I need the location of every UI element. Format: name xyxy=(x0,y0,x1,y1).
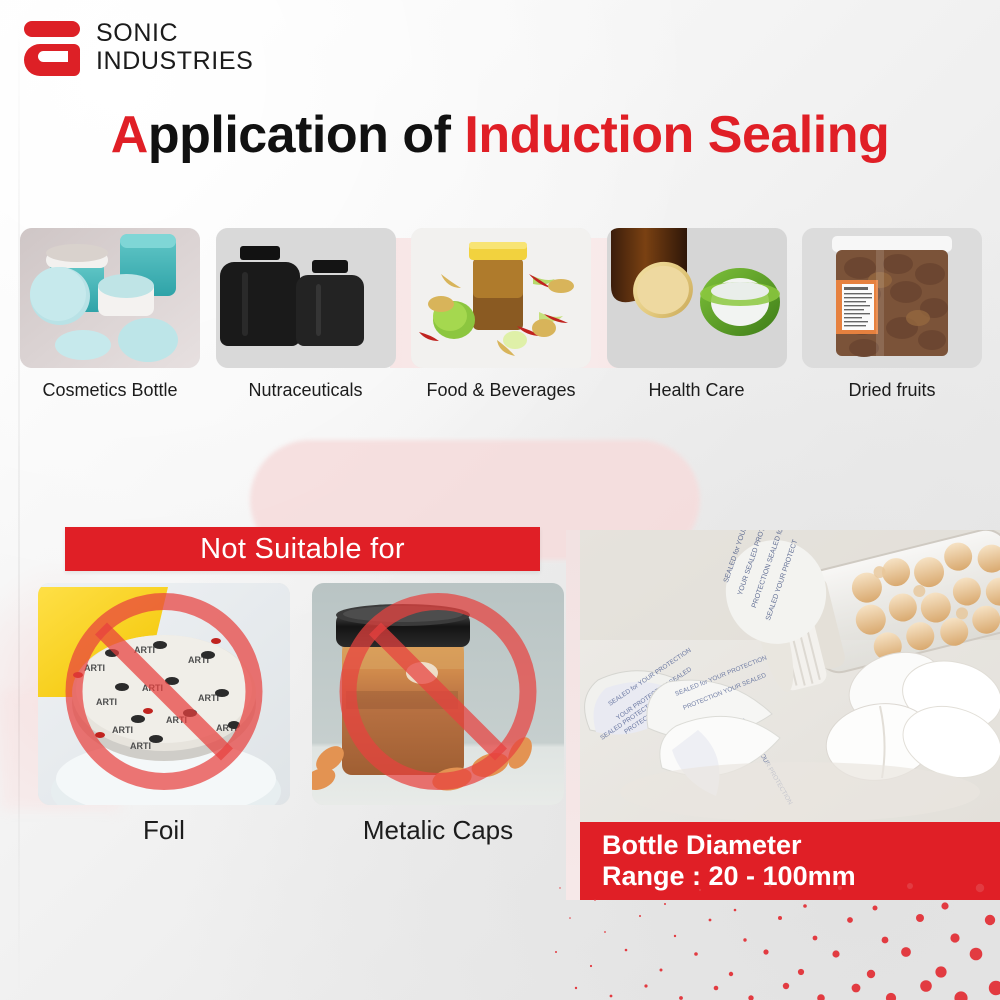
bottle-diameter-side-strip xyxy=(566,530,580,900)
brand-line-2: INDUSTRIES xyxy=(96,47,253,75)
brand-logo: SONIC INDUSTRIES xyxy=(24,18,253,76)
not-suitable-card-row: ARTIARTIARTI ARTIARTIARTI ARTIARTIARTI A… xyxy=(38,583,564,846)
application-card-cosmetics-bottle[interactable]: Cosmetics Bottle xyxy=(20,228,200,401)
brand-line-1: SONIC xyxy=(96,19,253,47)
brand-name: SONIC INDUSTRIES xyxy=(96,19,253,75)
application-label: Cosmetics Bottle xyxy=(20,380,200,401)
black-nutraceutical-bottles-photo xyxy=(216,228,396,368)
application-label: Food & Beverages xyxy=(411,380,591,401)
page-title: Application of Induction Sealing xyxy=(0,105,1000,165)
application-card-food-beverages[interactable]: Food & Beverages xyxy=(411,228,591,401)
application-card-health-care[interactable]: Health Care xyxy=(607,228,787,401)
prohibition-sign-icon xyxy=(333,587,543,802)
bottle-diameter-line-1: Bottle Diameter xyxy=(602,830,1000,861)
application-card-dried-fruits[interactable]: Dried fruits xyxy=(802,228,982,401)
title-black-part: pplication of xyxy=(148,106,465,164)
not-suitable-banner: Not Suitable for xyxy=(65,527,540,571)
not-suitable-label-foil: Foil xyxy=(38,815,290,846)
title-red-part: Induction Sealing xyxy=(464,106,889,164)
not-suitable-card-metalic-caps[interactable]: Metalic Caps xyxy=(312,583,564,846)
amber-bottle-gold-foil-seal-photo xyxy=(607,228,787,368)
application-card-nutraceuticals[interactable]: Nutraceuticals xyxy=(216,228,396,401)
application-label: Dried fruits xyxy=(802,380,982,401)
application-label: Health Care xyxy=(607,380,787,401)
dried-fruits-jar-photo xyxy=(802,228,982,368)
pickle-jar-with-spices-photo xyxy=(411,228,591,368)
not-suitable-label-metalic-caps: Metalic Caps xyxy=(312,815,564,846)
foil-liners-stack-photo: ARTIARTIARTI ARTIARTIARTI ARTIARTIARTI A… xyxy=(38,583,290,805)
application-card-row: Cosmetics Bottle Nutraceuticals xyxy=(20,228,982,401)
poster-canvas: SONIC INDUSTRIES Application of Inductio… xyxy=(0,0,1000,1000)
not-suitable-label: Not Suitable for xyxy=(200,533,405,566)
metal-cap-jar-photo xyxy=(312,583,564,805)
application-label: Nutraceuticals xyxy=(216,380,396,401)
prohibition-sign-icon xyxy=(59,587,269,802)
not-suitable-card-foil[interactable]: ARTIARTIARTI ARTIARTIARTI ARTIARTIARTI A… xyxy=(38,583,290,846)
cosmetics-jars-with-seal-liners-photo xyxy=(20,228,200,368)
halftone-dots-pattern xyxy=(540,870,1000,1000)
sonic-s-logo-icon xyxy=(24,18,82,76)
induction-seal-liners-and-bottle-photo: SEALED for YOUR PROTECTION YOUR SEALED P… xyxy=(580,530,1000,822)
title-accent-letter: A xyxy=(111,106,148,164)
